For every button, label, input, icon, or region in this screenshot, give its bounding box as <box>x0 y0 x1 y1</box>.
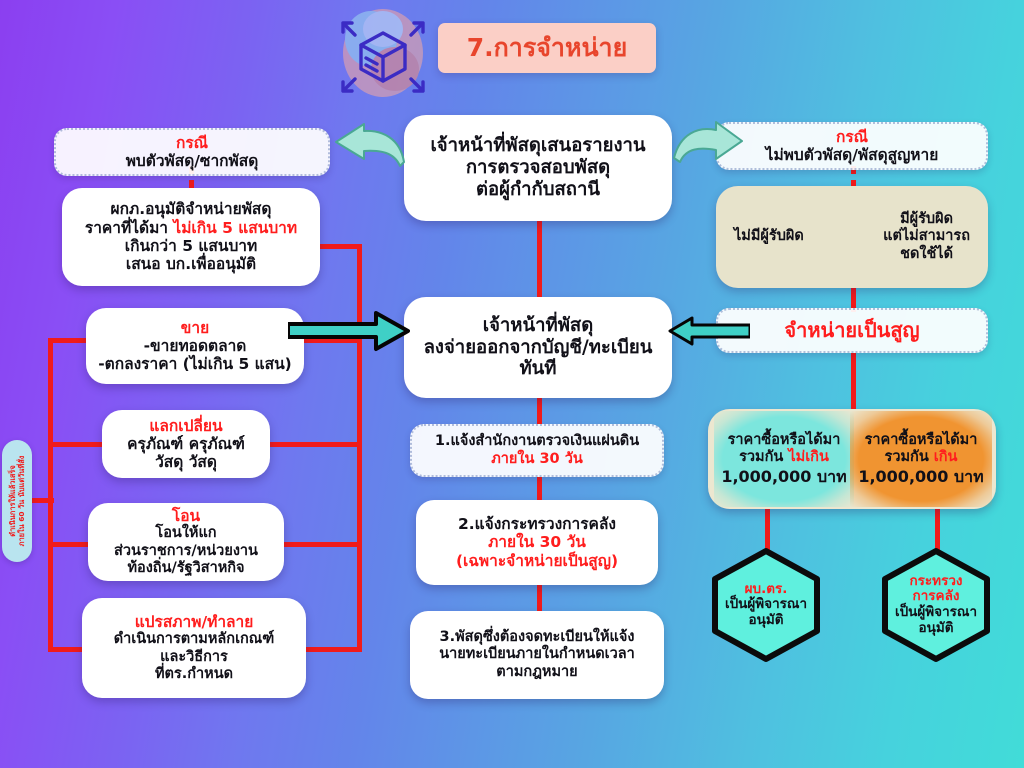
left-case-header-text: พบตัวพัสดุ/ซากพัสดุ <box>126 152 259 170</box>
connector-center-record-step1 <box>537 398 542 424</box>
right-loss-box-text: จำหน่ายเป็นสูญ <box>784 319 919 343</box>
right-case-header[interactable]: กรณี ไม่พบตัวพัสดุ/พัสดุสูญหาย <box>716 122 988 170</box>
right-liability-box[interactable]: ไม่มีผู้รับผิด มีผู้รับผิด แต่ไม่สามารถ … <box>716 186 988 288</box>
right-case-header-label: กรณี <box>836 128 868 146</box>
center-step-1-line-1: 1.แจ้งสำนักงานตรวจเงินแผ่นดิน <box>435 433 639 450</box>
right-liability-right-line-1: มีผู้รับผิด <box>883 211 970 228</box>
center-step-2-line-2: ภายใน 30 วัน <box>488 533 586 551</box>
left-method-destroy-line-3: ที่ตร.กำหนด <box>155 666 233 683</box>
left-approval-line-2a: ราคาที่ได้มา <box>85 219 174 237</box>
right-threshold-2-line-1: ราคาซื้อหรือได้มา <box>858 432 983 450</box>
left-method-destroy-line-1: ดำเนินการตามหลักเกณฑ์ <box>114 631 275 648</box>
center-record-line-3: ทันที <box>519 358 556 380</box>
connector-center-main-record <box>537 221 542 299</box>
right-threshold-2-line-2: รวมกัน เกิน <box>858 449 983 467</box>
page-title: 7.การจำหน่าย <box>438 23 656 73</box>
center-main-line-3: ต่อผู้กำกับสถานี <box>476 179 600 201</box>
left-approval-box[interactable]: ผกภ.อนุมัติจำหน่ายพัสดุ ราคาที่ได้มา ไม่… <box>62 188 320 286</box>
right-approver-2-title: กระทรวง <box>910 574 963 590</box>
right-threshold-1-line-1: ราคาซื้อหรือได้มา <box>721 432 846 450</box>
center-step-3-line-2: นายทะเบียนภายในกำหนดเวลา <box>439 646 635 663</box>
center-step-1-line-2: ภายใน 30 วัน <box>491 451 583 468</box>
left-method-exchange-line-1: ครุภัณฑ์ ครุภัณฑ์ <box>127 435 245 453</box>
right-threshold-1-line-2: รวมกัน ไม่เกิน <box>721 449 846 467</box>
connector-left-right-rail <box>357 244 362 652</box>
left-method-transfer-line-1: โอนให้แก <box>155 525 216 542</box>
center-main-line-1: เจ้าหน้าที่พัสดุเสนอรายงาน <box>430 135 645 157</box>
center-step-1[interactable]: 1.แจ้งสำนักงานตรวจเงินแผ่นดิน ภายใน 30 ว… <box>410 424 664 477</box>
center-main-line-2: การตรวจสอบพัสดุ <box>466 157 610 179</box>
right-threshold-1-line-2b: ไม่เกิน <box>788 449 829 465</box>
right-threshold-2-line-2a: รวมกัน <box>885 449 934 465</box>
center-step-2-line-1: 2.แจ้งกระทรวงการคลัง <box>458 515 616 533</box>
right-approver-1[interactable]: ผบ.ตร. เป็นผู้พิจารณา อนุมัติ <box>706 546 826 664</box>
right-threshold-1[interactable]: ราคาซื้อหรือได้มา รวมกัน ไม่เกิน 1,000,0… <box>714 411 854 507</box>
right-liability-right-line-3: ชดใช้ได้ <box>883 246 970 263</box>
left-approval-line-3: เกินกว่า 5 แสนบาท <box>125 237 257 255</box>
right-approver-2-title-2: การคลัง <box>913 589 960 605</box>
right-approver-1-line-2: อนุมัติ <box>748 613 783 629</box>
left-approval-line-4: เสนอ บก.เพื่ออนุมัติ <box>126 255 256 273</box>
right-approver-2-line-1: เป็นผู้พิจารณา <box>895 605 977 621</box>
arrow-left-to-record <box>288 310 410 352</box>
left-case-header[interactable]: กรณี พบตัวพัสดุ/ซากพัสดุ <box>54 128 330 176</box>
left-side-note: ดำเนินการให้แล้วเสร็จ ภายใน 60 วัน นับแต… <box>2 440 32 562</box>
left-method-transfer-line-2: ส่วนราชการ/หน่วยงาน <box>114 543 258 560</box>
left-method-sell-title: ขาย <box>181 319 209 337</box>
left-method-exchange[interactable]: แลกเปลี่ยน ครุภัณฑ์ ครุภัณฑ์ วัสดุ วัสดุ <box>102 410 270 478</box>
center-record-line-1: เจ้าหน้าที่พัสดุ <box>483 315 593 337</box>
connector-left-leftrail-exchange <box>48 442 106 447</box>
center-step-3-line-3: ตามกฎหมาย <box>496 664 577 681</box>
left-side-note-line-1: ดำเนินการให้แล้วเสร็จ <box>8 456 17 547</box>
center-record-line-2: ลงจ่ายออกจากบัญชี/ทะเบียน <box>424 337 653 359</box>
left-method-transfer-line-3: ท้องถิ่น/รัฐวิสาหกิจ <box>127 560 244 577</box>
center-step-2[interactable]: 2.แจ้งกระทรวงการคลัง ภายใน 30 วัน (เฉพาะ… <box>416 500 658 585</box>
right-liability-right-line-2: แต่ไม่สามารถ <box>883 228 970 245</box>
connector-center-step1-step2 <box>537 477 542 500</box>
right-threshold-2[interactable]: ราคาซื้อหรือได้มา รวมกัน เกิน 1,000,000 … <box>850 411 992 507</box>
connector-right-loss-thresholds <box>851 353 856 409</box>
center-main-box[interactable]: เจ้าหน้าที่พัสดุเสนอรายงาน การตรวจสอบพัส… <box>404 115 672 221</box>
left-method-exchange-title: แลกเปลี่ยน <box>149 417 222 435</box>
arrow-loss-to-record <box>668 316 750 346</box>
center-record-box[interactable]: เจ้าหน้าที่พัสดุ ลงจ่ายออกจากบัญชี/ทะเบี… <box>404 297 672 398</box>
connector-center-step2-step3 <box>537 585 542 611</box>
left-method-sell[interactable]: ขาย -ขายทอดตลาด -ตกลงราคา (ไม่เกิน 5 แสน… <box>86 308 304 384</box>
right-liability-right: มีผู้รับผิด แต่ไม่สามารถ ชดใช้ได้ <box>883 211 970 262</box>
left-method-sell-line-2: -ตกลงราคา (ไม่เกิน 5 แสน) <box>98 355 292 373</box>
package-distribution-icon <box>325 3 441 103</box>
right-approver-1-line-1: เป็นผู้พิจารณา <box>725 597 807 613</box>
right-liability-left: ไม่มีผู้รับผิด <box>734 228 804 245</box>
right-case-header-text: ไม่พบตัวพัสดุ/พัสดุสูญหาย <box>766 146 939 164</box>
center-step-3[interactable]: 3.พัสดุซึ่งต้องจดทะเบียนให้แจ้ง นายทะเบี… <box>410 611 664 699</box>
connector-left-left-rail <box>48 338 53 652</box>
right-threshold-2-line-3: 1,000,000 บาท <box>858 467 983 487</box>
right-loss-box[interactable]: จำหน่ายเป็นสูญ <box>716 308 988 353</box>
arrow-main-to-left <box>330 122 408 172</box>
connector-left-rail-exchange <box>270 442 362 447</box>
left-method-transfer-title: โอน <box>172 507 200 525</box>
right-approver-2-line-2: อนุมัติ <box>918 621 953 637</box>
left-approval-line-2: ราคาที่ได้มา ไม่เกิน 5 แสนบาท <box>85 219 297 237</box>
left-approval-line-2b: ไม่เกิน 5 แสนบาท <box>173 219 297 237</box>
left-side-note-line-2: ภายใน 60 วัน นับแต่วันที่สั่ง <box>17 456 26 547</box>
center-step-2-line-3: (เฉพาะจำหน่ายเป็นสูญ) <box>456 552 618 570</box>
left-method-exchange-line-2: วัสดุ วัสดุ <box>155 453 217 471</box>
connector-left-sidenote-tick <box>30 498 54 503</box>
right-approver-2[interactable]: กระทรวง การคลัง เป็นผู้พิจารณา อนุมัติ <box>876 546 996 664</box>
center-step-3-line-1: 3.พัสดุซึ่งต้องจดทะเบียนให้แจ้ง <box>440 629 635 646</box>
left-method-destroy-title: แปรสภาพ/ทำลาย <box>135 613 254 631</box>
left-case-header-label: กรณี <box>176 134 208 152</box>
right-threshold-1-line-2a: รวมกัน <box>739 449 788 465</box>
right-approver-1-title: ผบ.ตร. <box>745 582 788 598</box>
left-approval-line-1: ผกภ.อนุมัติจำหน่ายพัสดุ <box>111 200 272 218</box>
right-threshold-2-line-2b: เกิน <box>934 449 958 465</box>
left-method-transfer[interactable]: โอน โอนให้แก ส่วนราชการ/หน่วยงาน ท้องถิ่… <box>88 503 284 581</box>
arrow-main-to-right <box>672 118 744 166</box>
left-method-destroy-line-2: และวิธีการ <box>160 649 228 666</box>
infographic-canvas: 7.การจำหน่าย <box>0 0 1024 768</box>
left-method-sell-line-1: -ขายทอดตลาด <box>144 337 247 355</box>
right-threshold-1-line-3: 1,000,000 บาท <box>721 467 846 487</box>
left-side-note-text: ดำเนินการให้แล้วเสร็จ ภายใน 60 วัน นับแต… <box>8 456 27 547</box>
left-method-destroy[interactable]: แปรสภาพ/ทำลาย ดำเนินการตามหลักเกณฑ์ และว… <box>82 598 306 698</box>
